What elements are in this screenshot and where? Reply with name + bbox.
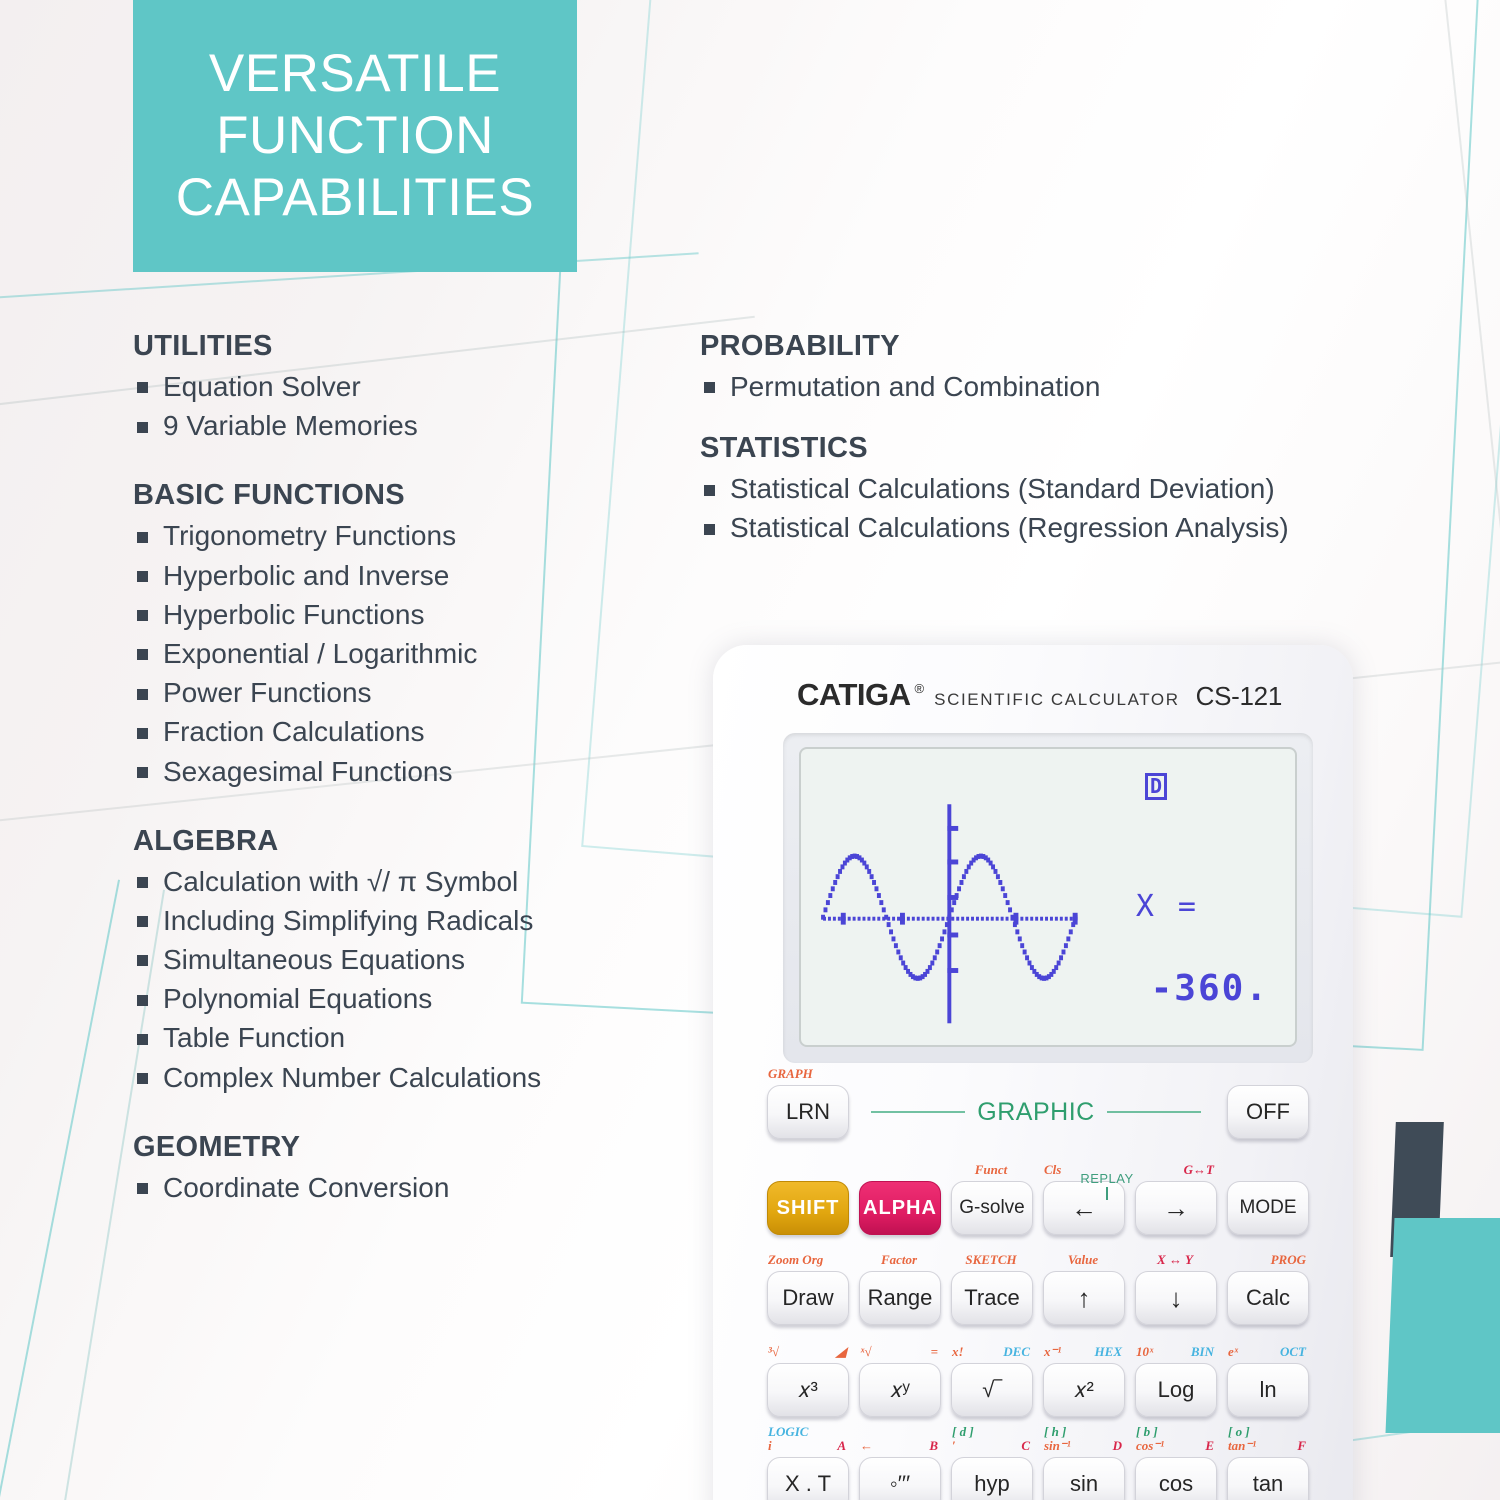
graphic-label: GRAPHIC xyxy=(977,1098,1094,1127)
key-slot: Value↑ xyxy=(1043,1271,1123,1331)
list-item: Including Simplifying Radicals xyxy=(133,901,678,940)
key-key[interactable]: 𝑥ʸ xyxy=(859,1363,941,1417)
key-g-solve[interactable]: G-solve xyxy=(951,1181,1033,1235)
replay-marker: REPLAY xyxy=(1059,1171,1155,1200)
key-alpha-label: DEC xyxy=(1003,1344,1030,1360)
section-heading: GEOMETRY xyxy=(133,1131,678,1164)
key-alpha-label: A xyxy=(837,1438,846,1454)
key-secondary-label: PROG xyxy=(1271,1252,1306,1268)
key-range[interactable]: Range xyxy=(859,1271,941,1325)
registered-mark: ® xyxy=(915,681,925,696)
list-item-label: Complex Number Calculations xyxy=(163,1062,541,1093)
key-key[interactable]: √‾ xyxy=(951,1363,1033,1417)
bullet-square-icon xyxy=(704,382,715,393)
graphic-line-right xyxy=(1107,1111,1201,1113)
key-slot: eˣOCT[ o ]ln xyxy=(1227,1363,1307,1423)
title-banner: VERSATILE FUNCTION CAPABILITIES xyxy=(133,0,577,272)
key-slot: X ↔ Y↓ xyxy=(1135,1271,1215,1331)
keypad-row-3: Zoom OrgDrawFactorRangeSKETCHTraceValue↑… xyxy=(767,1271,1307,1331)
bullet-square-icon xyxy=(137,649,148,660)
feature-list: Coordinate Conversion xyxy=(133,1168,678,1207)
bullet-square-icon xyxy=(137,382,148,393)
bullet-square-icon xyxy=(137,955,148,966)
list-item-label: Coordinate Conversion xyxy=(163,1172,449,1203)
feature-list: Trigonometry FunctionsHyperbolic and Inv… xyxy=(133,516,678,790)
key-shift-label: tan⁻¹ xyxy=(1228,1438,1256,1454)
key-secondary-label: G↔T xyxy=(1184,1162,1214,1178)
keypad-row-2: SHIFTALPHAFunctG-solveCls←G↔T→MODE xyxy=(767,1181,1307,1241)
key-slot: FunctG-solve xyxy=(951,1181,1031,1241)
list-item-label: Statistical Calculations (Standard Devia… xyxy=(730,473,1275,504)
key-slot: x⁻¹HEX[ h ]𝑥² xyxy=(1043,1363,1123,1423)
list-item-label: 9 Variable Memories xyxy=(163,410,418,441)
keypad-row-5: iAX . T←B◦′′′′Chypsin⁻¹Dsincos⁻¹Ecostan⁻… xyxy=(767,1457,1307,1500)
section-heading: STATISTICS xyxy=(700,432,1470,465)
bullet-square-icon xyxy=(137,1034,148,1045)
bullet-square-icon xyxy=(137,532,148,543)
list-item: Statistical Calculations (Regression Ana… xyxy=(700,508,1470,547)
key-calc[interactable]: Calc xyxy=(1227,1271,1309,1325)
bullet-square-icon xyxy=(137,995,148,1006)
key-slot: 10ˣBIN[ b ]Log xyxy=(1135,1363,1215,1423)
accent-block-teal xyxy=(1385,1218,1500,1433)
key-draw[interactable]: Draw xyxy=(767,1271,849,1325)
bullet-square-icon xyxy=(137,767,148,778)
feature-section: PROBABILITYPermutation and Combination xyxy=(700,330,1470,406)
list-item: Polynomial Equations xyxy=(133,979,678,1018)
key-slot: MODE xyxy=(1227,1181,1307,1241)
key-shift-label: x! xyxy=(952,1344,964,1360)
poster-canvas: VERSATILE FUNCTION CAPABILITIES UTILITIE… xyxy=(0,0,1500,1500)
list-item-label: Trigonometry Functions xyxy=(163,520,456,551)
key-slot: tan⁻¹Ftan xyxy=(1227,1457,1307,1500)
list-item-label: Simultaneous Equations xyxy=(163,944,465,975)
key-below-label: LOGIC xyxy=(768,1424,808,1440)
feature-column-left: UTILITIESEquation Solver9 Variable Memor… xyxy=(133,330,678,1241)
list-item-label: Hyperbolic Functions xyxy=(163,599,424,630)
key-shift-label: sin⁻¹ xyxy=(1044,1438,1071,1454)
list-item: Equation Solver xyxy=(133,367,678,406)
key-alpha-label: = xyxy=(931,1344,938,1360)
key-slot: GRAPH LRN xyxy=(767,1085,847,1145)
bullet-square-icon xyxy=(137,1073,148,1084)
key-sin[interactable]: sin xyxy=(1043,1457,1125,1500)
key-ln[interactable]: ln xyxy=(1227,1363,1309,1417)
key-shift-label: x⁻¹ xyxy=(1044,1344,1061,1360)
list-item: Coordinate Conversion xyxy=(133,1168,678,1207)
feature-list: Permutation and Combination xyxy=(700,367,1470,406)
key-slot: FactorRange xyxy=(859,1271,939,1331)
list-item-label: Calculation with √/ π Symbol xyxy=(163,866,518,897)
key-key[interactable]: ↓ xyxy=(1135,1271,1217,1325)
key-slot: cos⁻¹Ecos xyxy=(1135,1457,1215,1500)
list-item-label: Exponential / Logarithmic xyxy=(163,638,477,669)
graphic-band: GRAPHIC xyxy=(871,1095,1201,1129)
key-key[interactable]: ↑ xyxy=(1043,1271,1125,1325)
list-item: Table Function xyxy=(133,1018,678,1057)
key-cos[interactable]: cos xyxy=(1135,1457,1217,1500)
key-secondary-label: Funct xyxy=(975,1162,1008,1178)
list-item: Hyperbolic Functions xyxy=(133,595,678,634)
key-alpha-label: BIN xyxy=(1191,1344,1214,1360)
key-slot: PROGCalc xyxy=(1227,1271,1307,1331)
key-tan[interactable]: tan xyxy=(1227,1457,1309,1500)
deco-line-3 xyxy=(0,880,120,1500)
key-shift-label: ˣ√ xyxy=(860,1344,872,1360)
x-label: X = xyxy=(1136,889,1199,924)
list-item: Permutation and Combination xyxy=(700,367,1470,406)
display-bezel: D X = -360. xyxy=(783,733,1313,1063)
brand-row: CATIGA ® SCIENTIFIC CALCULATOR CS-121 xyxy=(797,677,1282,713)
bullet-square-icon xyxy=(137,728,148,739)
product-type: SCIENTIFIC CALCULATOR xyxy=(934,690,1180,710)
brand-name: CATIGA xyxy=(797,677,911,713)
feature-section: ALGEBRACalculation with √/ π SymbolInclu… xyxy=(133,825,678,1097)
list-item: Hyperbolic and Inverse xyxy=(133,556,678,595)
key-trace[interactable]: Trace xyxy=(951,1271,1033,1325)
feature-column-right: PROBABILITYPermutation and CombinationST… xyxy=(700,330,1470,574)
list-item-label: Statistical Calculations (Regression Ana… xyxy=(730,512,1289,543)
key-hyp[interactable]: hyp xyxy=(951,1457,1033,1500)
key-secondary-label: GRAPH xyxy=(768,1066,813,1082)
list-item: Calculation with √/ π Symbol xyxy=(133,862,678,901)
section-heading: BASIC FUNCTIONS xyxy=(133,479,678,512)
key-alpha[interactable]: ALPHA xyxy=(859,1181,941,1235)
key-key[interactable]: 𝑥² xyxy=(1043,1363,1125,1417)
key-off[interactable]: OFF xyxy=(1227,1085,1309,1139)
keypad: GRAPH LRN GRAPHIC OFF SHIFTALPHAFunctG-s… xyxy=(767,1085,1307,1500)
key-x-t[interactable]: X . T xyxy=(767,1457,849,1500)
arrow-icon: ↑ xyxy=(1078,1285,1091,1311)
key-mode[interactable]: MODE xyxy=(1227,1181,1309,1235)
feature-section: UTILITIESEquation Solver9 Variable Memor… xyxy=(133,330,678,445)
key-key[interactable]: ◦′′′ xyxy=(859,1457,941,1500)
bullet-square-icon xyxy=(137,1183,148,1194)
key-shift-label: i xyxy=(768,1438,772,1454)
key-alpha-label: HEX xyxy=(1095,1344,1122,1360)
key-shift-label: ← xyxy=(860,1438,873,1454)
bullet-square-icon xyxy=(704,485,715,496)
list-item: Statistical Calculations (Standard Devia… xyxy=(700,469,1470,508)
list-item-label: Hyperbolic and Inverse xyxy=(163,560,449,591)
bullet-square-icon xyxy=(137,571,148,582)
key-slot: ³√◢LOGIC𝑥³ xyxy=(767,1363,847,1423)
key-slot: SKETCHTrace xyxy=(951,1271,1031,1331)
key-slot: Zoom OrgDraw xyxy=(767,1271,847,1331)
list-item-label: Table Function xyxy=(163,1022,345,1053)
feature-list: Calculation with √/ π SymbolIncluding Si… xyxy=(133,862,678,1097)
key-slot: ′Chyp xyxy=(951,1457,1031,1500)
key-slot: x!DEC[ d ]√‾ xyxy=(951,1363,1031,1423)
list-item-label: Power Functions xyxy=(163,677,372,708)
list-item-label: Polynomial Equations xyxy=(163,983,432,1014)
list-item-label: Permutation and Combination xyxy=(730,371,1100,402)
list-item: Power Functions xyxy=(133,673,678,712)
key-alpha-label: C xyxy=(1021,1438,1030,1454)
key-slot: ALPHA xyxy=(859,1181,939,1241)
key-slot: ←B◦′′′ xyxy=(859,1457,939,1500)
key-slot: SHIFT xyxy=(767,1181,847,1241)
bullet-square-icon xyxy=(137,916,148,927)
key-secondary-label: SKETCH xyxy=(965,1252,1016,1268)
list-item-label: Sexagesimal Functions xyxy=(163,756,452,787)
key-secondary-label: X ↔ Y xyxy=(1157,1252,1193,1268)
key-shift-label: 10ˣ xyxy=(1136,1344,1153,1360)
key-log[interactable]: Log xyxy=(1135,1363,1217,1417)
list-item: Sexagesimal Functions xyxy=(133,752,678,791)
key-shift-label: eˣ xyxy=(1228,1344,1238,1360)
key-lrn[interactable]: LRN xyxy=(767,1085,849,1139)
keypad-row-4: ³√◢LOGIC𝑥³ˣ√=𝑥ʸx!DEC[ d ]√‾x⁻¹HEX[ h ]𝑥²… xyxy=(767,1363,1307,1423)
feature-section: BASIC FUNCTIONSTrigonometry FunctionsHyp… xyxy=(133,479,678,790)
section-heading: UTILITIES xyxy=(133,330,678,363)
list-item: 9 Variable Memories xyxy=(133,406,678,445)
feature-list: Equation Solver9 Variable Memories xyxy=(133,367,678,445)
key-alpha-label: B xyxy=(929,1438,938,1454)
feature-section: STATISTICSStatistical Calculations (Stan… xyxy=(700,432,1470,547)
mode-indicator-icon: D xyxy=(1145,773,1167,800)
model-number: CS-121 xyxy=(1196,681,1282,712)
key-shift-label: ′ xyxy=(952,1438,956,1454)
keypad-row-1: GRAPH LRN GRAPHIC OFF xyxy=(767,1085,1307,1147)
section-heading: ALGEBRA xyxy=(133,825,678,858)
key-shift[interactable]: SHIFT xyxy=(767,1181,849,1235)
x-value: -360. xyxy=(1151,968,1269,1009)
key-alpha-label: D xyxy=(1113,1438,1122,1454)
key-slot: sin⁻¹Dsin xyxy=(1043,1457,1123,1500)
key-slot: iAX . T xyxy=(767,1457,847,1500)
replay-tick-icon xyxy=(1106,1187,1108,1200)
lcd-screen: D X = -360. xyxy=(799,747,1297,1047)
list-item-label: Including Simplifying Radicals xyxy=(163,905,533,936)
arrow-icon: ↓ xyxy=(1170,1285,1183,1311)
feature-list: Statistical Calculations (Standard Devia… xyxy=(700,469,1470,547)
arrow-icon: → xyxy=(1163,1195,1189,1221)
list-item: Simultaneous Equations xyxy=(133,940,678,979)
key-shift-label: cos⁻¹ xyxy=(1136,1438,1164,1454)
list-item-label: Fraction Calculations xyxy=(163,716,424,747)
bullet-square-icon xyxy=(137,610,148,621)
section-heading: PROBABILITY xyxy=(700,330,1470,363)
key-slot: OFF xyxy=(1227,1085,1307,1145)
key-alpha-label: F xyxy=(1297,1438,1306,1454)
bullet-square-icon xyxy=(137,422,148,433)
key-alpha-label: OCT xyxy=(1280,1344,1306,1360)
calculator-device: CATIGA ® SCIENTIFIC CALCULATOR CS-121 D … xyxy=(713,645,1353,1500)
list-item: Complex Number Calculations xyxy=(133,1058,678,1097)
key-secondary-label: Value xyxy=(1068,1252,1098,1268)
bullet-square-icon xyxy=(137,877,148,888)
feature-section: GEOMETRYCoordinate Conversion xyxy=(133,1131,678,1207)
list-item: Trigonometry Functions xyxy=(133,516,678,555)
list-item: Fraction Calculations xyxy=(133,712,678,751)
page-title: VERSATILE FUNCTION CAPABILITIES xyxy=(176,43,534,229)
key-slot: ˣ√=𝑥ʸ xyxy=(859,1363,939,1423)
bullet-square-icon xyxy=(704,524,715,535)
key-alpha-label: E xyxy=(1205,1438,1214,1454)
list-item-label: Equation Solver xyxy=(163,371,361,402)
bullet-square-icon xyxy=(137,689,148,700)
key-key[interactable]: 𝑥³ xyxy=(767,1363,849,1417)
key-secondary-label: Factor xyxy=(881,1252,917,1268)
key-secondary-label: Zoom Org xyxy=(768,1252,823,1268)
key-alpha-label: ◢ xyxy=(836,1344,846,1360)
key-shift-label: ³√ xyxy=(768,1344,779,1360)
graphic-line-left xyxy=(871,1111,965,1113)
replay-label: REPLAY xyxy=(1080,1171,1133,1186)
list-item: Exponential / Logarithmic xyxy=(133,634,678,673)
